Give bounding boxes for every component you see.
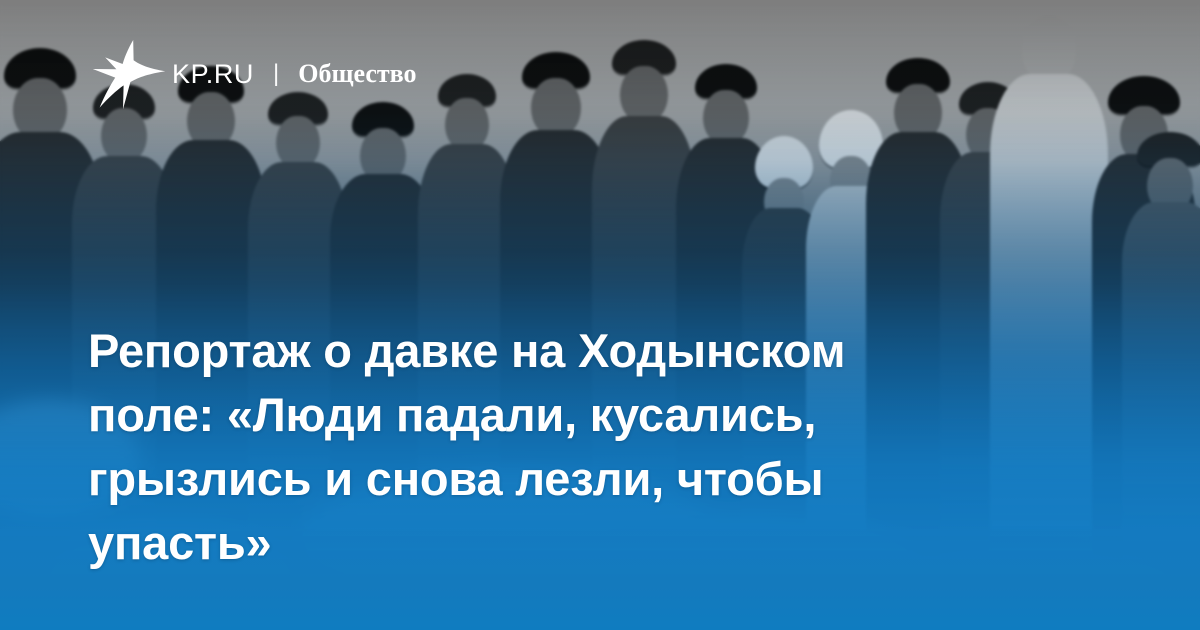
- category-label[interactable]: Общество: [298, 61, 416, 87]
- headline-line-4: упасть»: [88, 511, 1048, 575]
- social-share-card: KP.RU | Общество Репортаж о давке на Ход…: [0, 0, 1200, 630]
- headline-line-3: грызлись и снова лезли, чтобы: [88, 447, 1048, 511]
- headline-line-1: Репортаж о давке на Ходынском: [88, 319, 1048, 383]
- headline-line-2: поле: «Люди падали, кусались,: [88, 383, 1048, 447]
- brand-bar[interactable]: KP.RU | Общество: [92, 38, 417, 110]
- swallow-bird-icon: [92, 38, 166, 110]
- brand-separator: |: [273, 62, 279, 86]
- article-headline: Репортаж о давке на Ходынском поле: «Люд…: [88, 319, 1048, 575]
- site-name[interactable]: KP.RU: [172, 61, 254, 88]
